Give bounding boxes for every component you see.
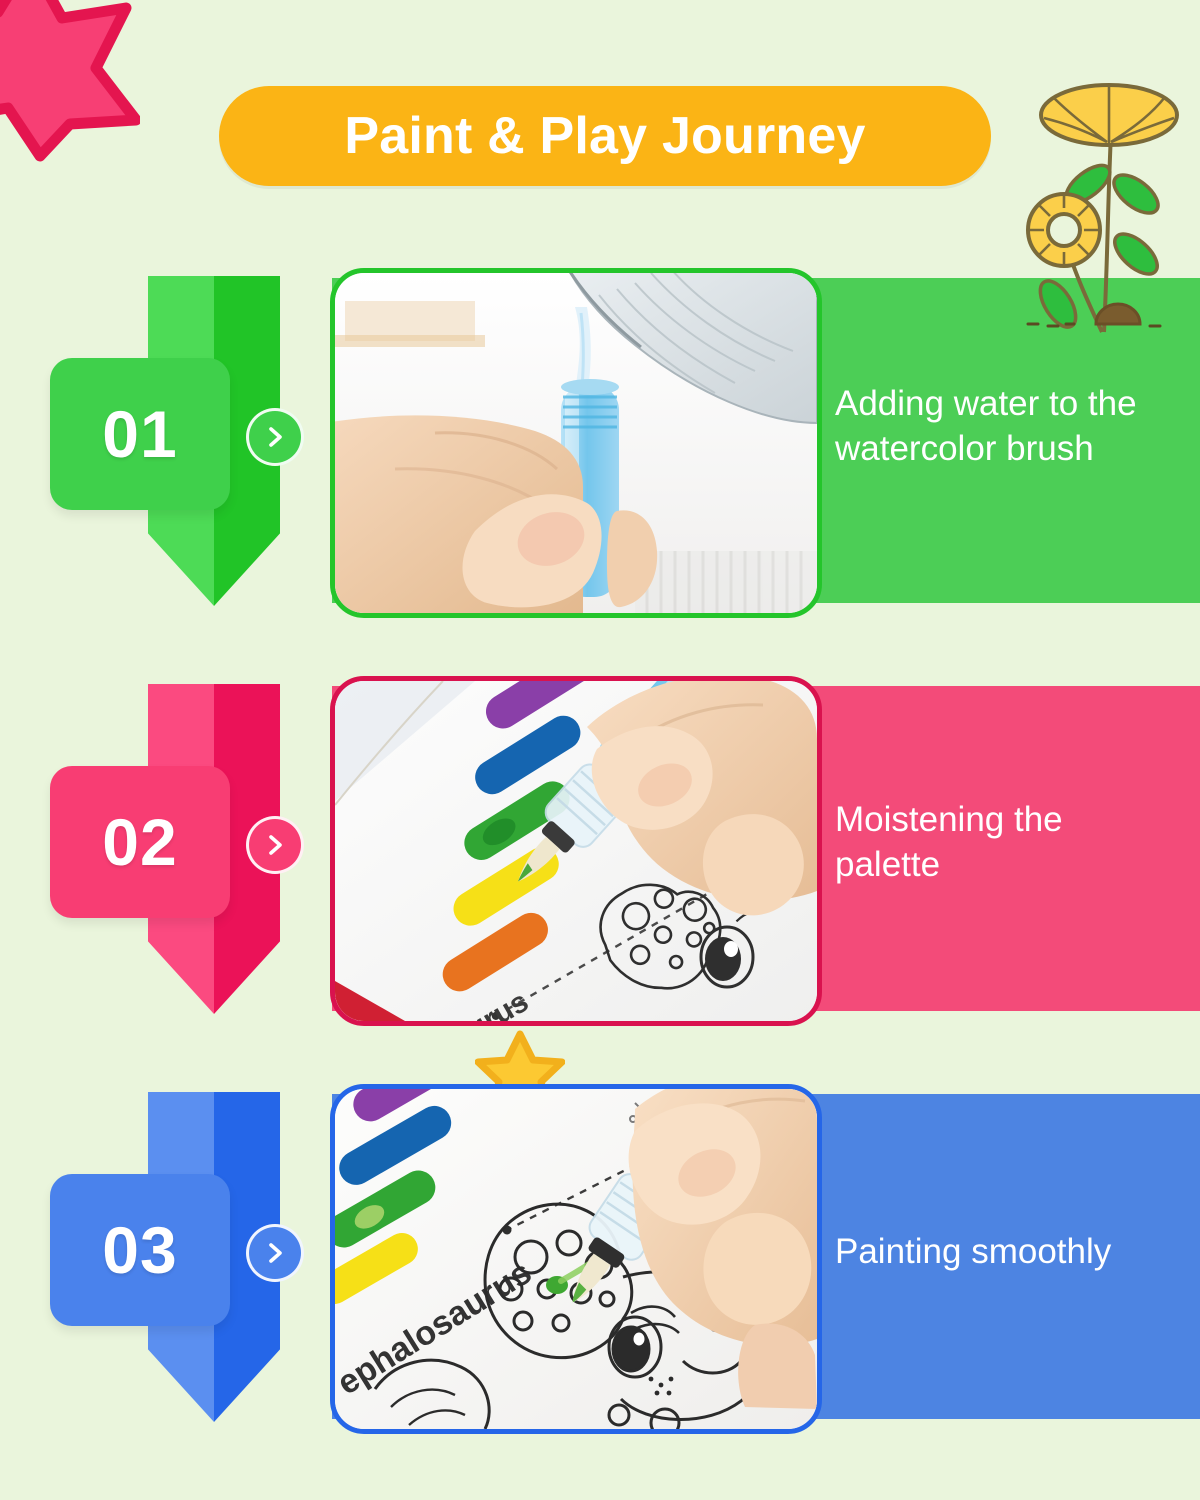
chevron-right-icon[interactable] xyxy=(246,816,304,874)
step-number-badge-03: 03 xyxy=(50,1174,230,1326)
step-number-01: 01 xyxy=(102,401,177,467)
step-row-02: Moistening the palette xyxy=(0,676,1200,1021)
step-caption-02: Moistening the palette xyxy=(835,798,1165,888)
chevron-right-icon[interactable] xyxy=(246,408,304,466)
step-caption-03: Painting smoothly xyxy=(835,1230,1165,1275)
pink-star-icon xyxy=(0,0,140,162)
step-photo-01 xyxy=(330,268,822,618)
chevron-right-icon[interactable] xyxy=(246,1224,304,1282)
step-number-02: 02 xyxy=(102,809,177,875)
step-row-03: Painting smoothly xyxy=(0,1084,1200,1429)
page-title-pill: Paint & Play Journey xyxy=(219,86,991,186)
step-photo-02: phalosaurus xyxy=(330,676,822,1026)
page-title: Paint & Play Journey xyxy=(344,110,865,162)
step-number-03: 03 xyxy=(102,1217,177,1283)
flower-icon xyxy=(1008,62,1198,352)
step-number-badge-02: 02 xyxy=(50,766,230,918)
step-caption-01: Adding water to the watercolor brush xyxy=(835,382,1165,472)
step-photo-03: ephalosaurus xyxy=(330,1084,822,1434)
step-number-badge-01: 01 xyxy=(50,358,230,510)
